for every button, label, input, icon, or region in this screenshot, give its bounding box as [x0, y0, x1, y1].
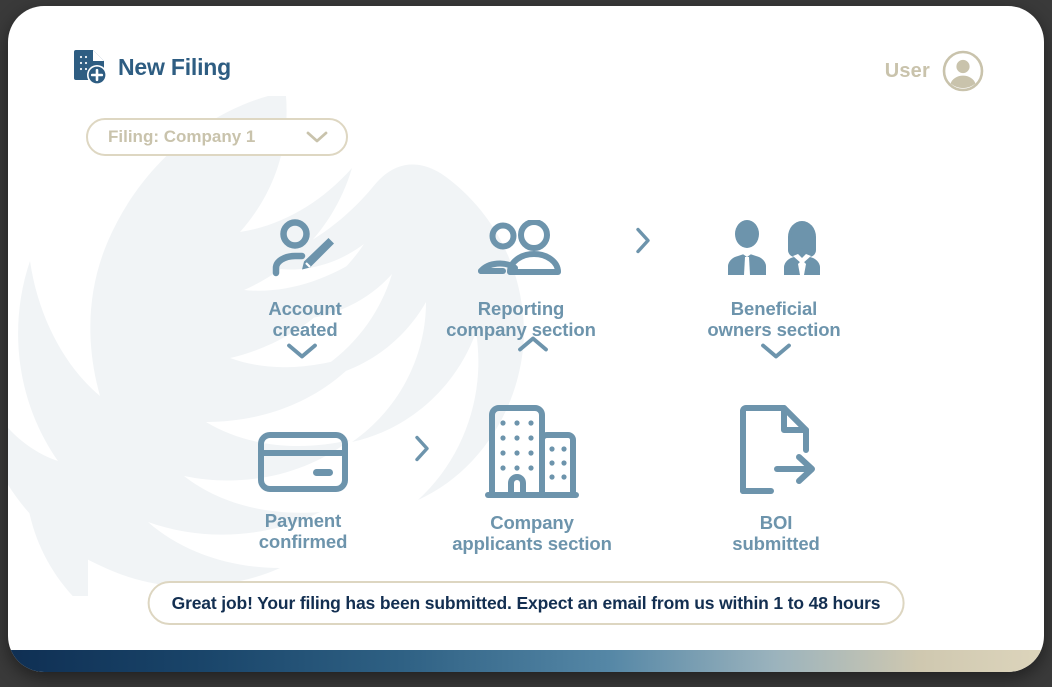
user-avatar-icon[interactable]	[942, 50, 984, 92]
connector-payment-to-company-applicants	[414, 435, 430, 468]
chevron-down-icon[interactable]	[306, 130, 346, 144]
office-buildings-icon	[427, 399, 637, 503]
connector-beneficial-to-boi	[760, 342, 792, 365]
chevron-right-icon	[414, 435, 430, 468]
page-title: New Filing	[118, 54, 231, 81]
person-edit-icon	[200, 211, 410, 289]
flow-node-beneficial-owners-section[interactable]: Beneficial owners section	[669, 211, 879, 341]
flow-node-label: Reporting company section	[416, 298, 626, 341]
connector-company-applicants-to-reporting	[517, 336, 549, 359]
status-banner: Great job! Your filing has been submitte…	[148, 581, 905, 625]
filing-selector-value: Filing: Company 1	[88, 127, 306, 147]
filing-selector[interactable]: Filing: Company 1	[86, 118, 348, 156]
flow-node-label: Beneficial owners section	[669, 298, 879, 341]
connector-reporting-to-beneficial	[635, 227, 651, 260]
new-document-icon	[74, 48, 108, 86]
status-message: Great job! Your filing has been submitte…	[172, 593, 881, 614]
user-label: User	[885, 60, 930, 83]
flow-node-label: BOI submitted	[671, 512, 881, 555]
flow-node-label: Company applicants section	[427, 512, 637, 555]
chevron-right-icon	[635, 227, 651, 260]
filing-progress-flow: Account created Reporting	[8, 181, 1044, 551]
flow-node-company-applicants-section[interactable]: Company applicants section	[427, 399, 637, 555]
credit-card-icon	[198, 423, 408, 501]
document-export-icon	[671, 399, 881, 503]
bottom-gradient-bar	[8, 650, 1044, 672]
brand: New Filing	[74, 48, 231, 86]
app-card: New Filing User Filing: Company 1	[8, 6, 1044, 672]
chevron-down-icon	[286, 342, 318, 365]
connector-account-to-payment	[286, 342, 318, 365]
flow-node-payment-confirmed[interactable]: Payment confirmed	[198, 423, 408, 553]
two-business-people-icon	[669, 211, 879, 289]
flow-node-label: Account created	[200, 298, 410, 341]
chevron-up-icon	[517, 336, 549, 359]
app-header: New Filing User	[8, 6, 1044, 111]
flow-node-label: Payment confirmed	[198, 510, 408, 553]
two-people-outline-icon	[416, 211, 626, 289]
user-menu[interactable]: User	[885, 50, 984, 92]
chevron-down-icon	[760, 342, 792, 365]
flow-node-boi-submitted[interactable]: BOI submitted	[671, 399, 881, 555]
flow-node-account-created[interactable]: Account created	[200, 211, 410, 341]
flow-node-reporting-company-section[interactable]: Reporting company section	[416, 211, 626, 341]
